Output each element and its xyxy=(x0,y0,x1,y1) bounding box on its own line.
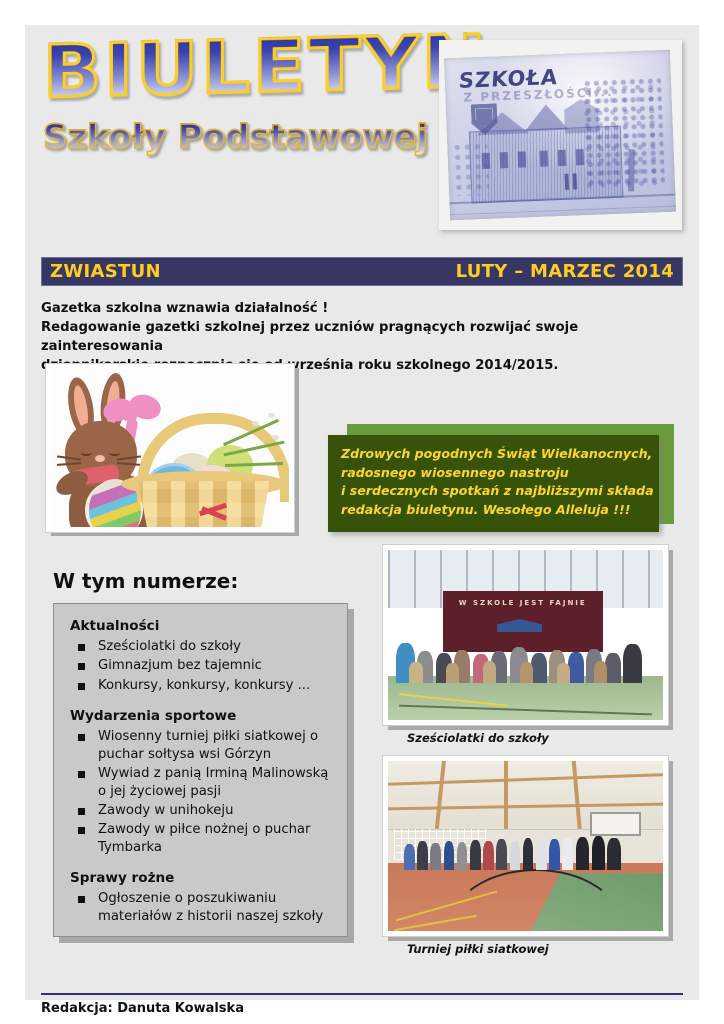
group-photo: W SZKOLE JEST FAJNIE xyxy=(382,544,669,726)
contents-section-title-sportowe: Wydarzenia sportowe xyxy=(70,708,335,724)
contents-box: Aktualności Sześciolatki do szkoły Gimna… xyxy=(53,603,348,937)
sketch-window xyxy=(558,150,567,166)
sketch-ground-line xyxy=(450,206,676,216)
person xyxy=(576,837,589,870)
basket-body xyxy=(129,481,279,527)
contents-heading: W tym numerze: xyxy=(53,569,238,593)
bunny-eye-right xyxy=(109,449,120,456)
person xyxy=(607,838,620,870)
person xyxy=(470,840,481,870)
easter-bunny-photo xyxy=(45,363,295,533)
person xyxy=(549,839,560,870)
person xyxy=(520,662,533,682)
person xyxy=(562,838,573,870)
masthead: BIULETYN Szkoły Podstawowej w Górzynie xyxy=(43,35,443,156)
easter-bunny-illustration xyxy=(51,369,289,527)
contents-list-aktualnosci: Sześciolatki do szkoły Gimnazjum bez taj… xyxy=(74,638,335,694)
person xyxy=(457,842,468,870)
person xyxy=(404,844,415,870)
gym-crowd xyxy=(394,632,658,683)
person xyxy=(496,839,507,870)
newsletter-page: BIULETYN Szkoły Podstawowej w Górzynie S… xyxy=(25,25,699,1000)
group-photo-caption: Sześciolatki do szkoły xyxy=(407,731,549,745)
willow-catkin xyxy=(272,435,279,440)
person xyxy=(483,841,494,869)
person xyxy=(430,843,441,870)
intro-line-1: Gazetka szkolna wznawia działalność ! xyxy=(41,299,691,318)
person xyxy=(409,662,422,682)
bunny-nose xyxy=(95,455,105,462)
sketch-figures xyxy=(572,173,577,189)
greeting-line-3: i serdecznych spotkań z najbliższymi skł… xyxy=(341,482,659,501)
sketch-window xyxy=(482,153,491,169)
sketch-window xyxy=(540,150,549,166)
gym-banner-text: W SZKOLE JEST FAJNIE xyxy=(443,599,603,607)
person xyxy=(523,838,534,869)
sketch-tree-right xyxy=(583,78,665,189)
list-item[interactable]: Wiosenny turniej piłki siatkowej o pucha… xyxy=(74,728,335,763)
willow-catkin xyxy=(268,413,275,418)
willow-catkin xyxy=(252,421,259,426)
contents-section-title-aktualnosci: Aktualności xyxy=(70,618,335,634)
intro-line-2: Redagowanie gazetki szkolnej przez uczni… xyxy=(41,318,691,356)
school-sketch-photo: SZKOŁA Z PRZESZŁOŚCI... xyxy=(439,40,682,230)
person xyxy=(444,841,455,870)
volleyball-photo xyxy=(382,755,669,937)
person xyxy=(568,652,584,683)
volleyball-photo-caption: Turniej piłki siatkowej xyxy=(407,942,549,956)
school-sketch-image: SZKOŁA Z PRZESZŁOŚCI... xyxy=(444,50,676,221)
person xyxy=(536,840,547,870)
list-item[interactable]: Gimnazjum bez tajemnic xyxy=(74,657,335,674)
footer-credit: Redakcja: Danuta Kowalska xyxy=(41,1001,244,1016)
list-item[interactable]: Ogłoszenie o poszukiwaniu materiałów z h… xyxy=(74,890,335,925)
sketch-window xyxy=(518,151,527,167)
sketch-window xyxy=(500,152,509,168)
person xyxy=(605,653,621,683)
newsletter-subtitle: Szkoły Podstawowej w Górzynie xyxy=(43,117,451,156)
sketch-figures xyxy=(564,174,569,190)
person xyxy=(483,661,496,682)
sketch-window xyxy=(576,149,585,165)
issue-banner: ZWIASTUN LUTY – MARZEC 2014 xyxy=(41,257,683,286)
hall-beam xyxy=(504,761,508,836)
greeting-line-2: radosnego wiosennego nastroju xyxy=(341,464,659,483)
footer-divider xyxy=(41,993,683,995)
group-photo-image: W SZKOLE JEST FAJNIE xyxy=(388,550,663,720)
banner-label-left: ZWIASTUN xyxy=(50,261,161,282)
contents-section-title-rozne: Sprawy rożne xyxy=(70,870,335,886)
greeting-box: Zdrowych pogodnych Świąt Wielkanocnych, … xyxy=(328,435,659,532)
contents-list-rozne: Ogłoszenie o poszukiwaniu materiałów z h… xyxy=(74,890,335,925)
person xyxy=(446,663,459,682)
person xyxy=(417,841,428,869)
greeting-line-4: redakcja biuletynu. Wesołego Alleluja !!… xyxy=(341,501,659,520)
list-item[interactable]: Zawody w piłce nożnej o puchar Tymbarka xyxy=(74,821,335,856)
sketch-tree-trunk xyxy=(628,149,635,191)
person xyxy=(592,836,605,870)
list-item[interactable]: Sześciolatki do szkoły xyxy=(74,638,335,655)
volleyball-crowd xyxy=(394,832,658,869)
newsletter-title: BIULETYN xyxy=(43,25,467,111)
banner-label-right: LUTY – MARZEC 2014 xyxy=(456,261,674,282)
gym-banner-house-icon xyxy=(497,619,542,632)
person xyxy=(594,661,607,682)
list-item[interactable]: Konkursy, konkursy, konkursy ... xyxy=(74,677,335,694)
person xyxy=(531,653,547,683)
person xyxy=(510,841,521,870)
bunny-eye-left xyxy=(81,449,92,456)
person xyxy=(623,644,641,683)
person xyxy=(557,663,570,682)
list-item[interactable]: Zawody w unihokeju xyxy=(74,802,335,819)
contents-list-sportowe: Wiosenny turniej piłki siatkowej o pucha… xyxy=(74,728,335,856)
greeting-line-1: Zdrowych pogodnych Świąt Wielkanocnych, xyxy=(341,445,659,464)
volleyball-photo-image xyxy=(388,761,663,931)
list-item[interactable]: Wywiad z panią Irminą Malinowską o jej ż… xyxy=(74,765,335,800)
gym-floor-line xyxy=(399,704,652,715)
